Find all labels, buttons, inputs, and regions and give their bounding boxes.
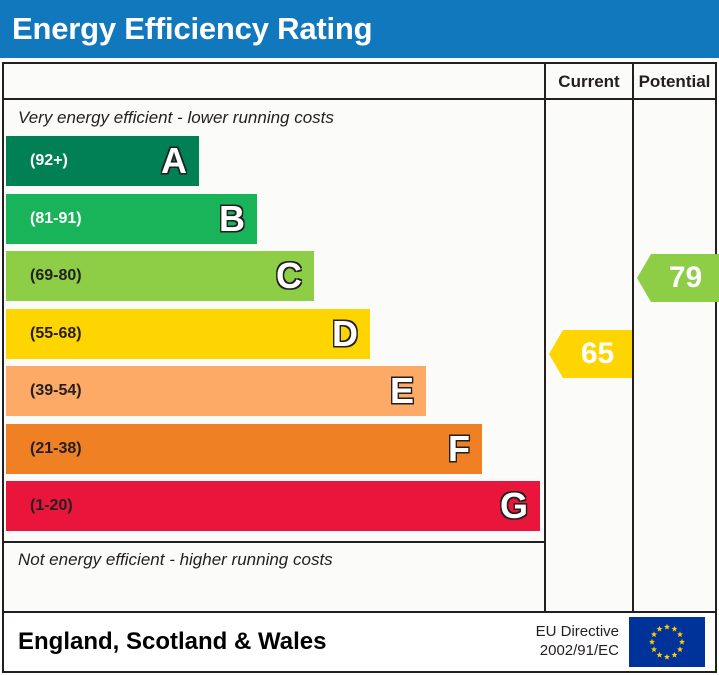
footer-directive-line2: 2002/91/EC (540, 642, 619, 659)
eu-star-icon (651, 631, 657, 637)
caption-efficient: Very energy efficient - lower running co… (4, 100, 544, 136)
rating-value-current: 65 (567, 337, 614, 371)
column-header-row: Current Potential (4, 64, 715, 100)
band-list: (92+)A(81-91)B(69-80)C(55-68)D(39-54)E(2… (4, 136, 544, 541)
band-letter-g: G (500, 488, 528, 524)
eu-star-icon (677, 646, 683, 652)
eu-flag-stars-icon (629, 617, 705, 667)
footer-directive-line1: EU Directive (536, 623, 619, 640)
band-letter-f: F (448, 431, 470, 467)
rating-value-potential: 79 (655, 261, 702, 295)
band-letter-c: C (276, 258, 302, 294)
eu-star-icon (664, 654, 670, 660)
eu-star-icon (651, 646, 657, 652)
eu-star-icon (671, 652, 677, 658)
band-range-c: (69-80) (6, 267, 82, 285)
column-header-potential: Potential (632, 64, 715, 100)
epc-certificate: Energy Efficiency Rating Current Potenti… (0, 0, 719, 675)
title-bar: Energy Efficiency Rating (0, 0, 719, 58)
caption-inefficient: Not energy efficient - higher running co… (4, 541, 544, 577)
rating-marker-current: 65 (549, 330, 632, 378)
band-letter-d: D (332, 316, 358, 352)
band-range-b: (81-91) (6, 210, 82, 228)
rating-table: Current Potential Very energy efficient … (2, 62, 717, 613)
rating-marker-potential: 79 (637, 254, 719, 302)
eu-star-icon (677, 631, 683, 637)
band-b: (81-91)B (6, 194, 257, 244)
band-range-f: (21-38) (6, 440, 82, 458)
band-e: (39-54)E (6, 366, 426, 416)
eu-star-icon (656, 652, 662, 658)
band-d: (55-68)D (6, 309, 370, 359)
eu-star-icon (656, 626, 662, 632)
eu-star-icon (664, 624, 670, 630)
footer-directive: EU Directive 2002/91/EC (536, 623, 629, 661)
band-letter-a: A (161, 143, 187, 179)
column-header-current: Current (544, 64, 632, 100)
band-range-a: (92+) (6, 152, 68, 170)
footer-region-label: England, Scotland & Wales (4, 628, 536, 656)
band-letter-b: B (219, 201, 245, 237)
column-header-potential-label: Potential (639, 72, 711, 92)
band-a: (92+)A (6, 136, 199, 186)
band-f: (21-38)F (6, 424, 482, 474)
eu-star-icon (671, 626, 677, 632)
band-range-e: (39-54) (6, 382, 82, 400)
band-c: (69-80)C (6, 251, 314, 301)
page-title: Energy Efficiency Rating (0, 11, 372, 47)
column-divider-current (544, 100, 546, 613)
band-range-d: (55-68) (6, 325, 82, 343)
eu-star-icon (679, 639, 685, 645)
band-g: (1-20)G (6, 481, 540, 531)
band-letter-e: E (390, 373, 414, 409)
band-range-g: (1-20) (6, 497, 73, 515)
column-divider-potential (632, 100, 634, 613)
column-header-current-label: Current (558, 72, 619, 92)
eu-star-icon (649, 639, 655, 645)
footer: England, Scotland & Wales EU Directive 2… (2, 613, 717, 673)
eu-flag-icon (629, 617, 705, 667)
